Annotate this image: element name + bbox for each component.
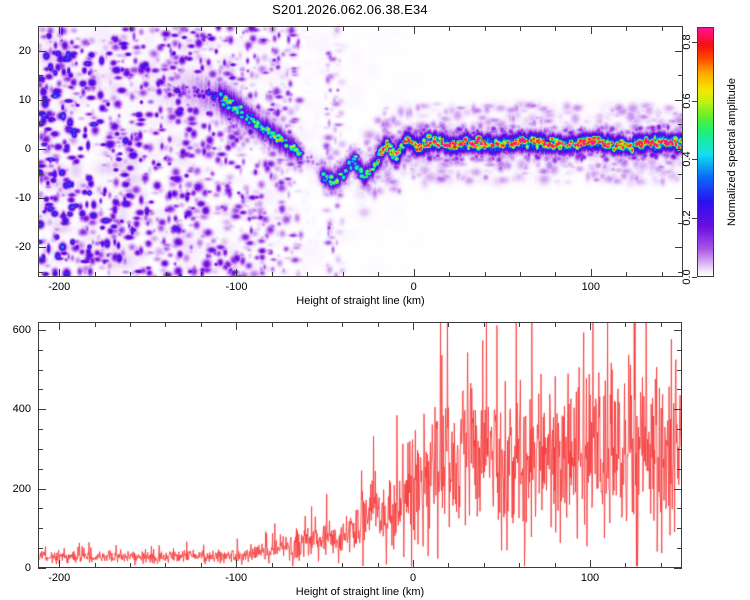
x-tick-major [59,560,60,568]
x-tick-minor [166,272,167,277]
x-tick-minor [201,272,202,277]
x-tick-minor [520,26,521,31]
x-tick-major [591,26,592,34]
x-tick-major [236,560,237,568]
y-tick-major [674,330,682,331]
x-tick-minor [555,272,556,277]
y-tick-minor [678,75,683,76]
y-tick-minor [38,528,43,529]
x-tick-minor [130,563,131,568]
x-tick-label: -200 [48,572,70,584]
x-tick-minor [307,272,308,277]
colorbar-tick-label: 0.8 [681,34,693,49]
x-tick-minor [519,322,520,327]
y-tick-major [675,149,683,150]
x-tick-minor [166,26,167,31]
y-tick-minor [677,429,682,430]
x-tick-label: 0 [410,572,416,584]
x-tick-minor [626,26,627,31]
x-tick-major [591,269,592,277]
x-tick-label: 100 [582,281,600,293]
figure-root: S201.2026.062.06.38.E34 -200-1000100-20-… [0,0,750,600]
y-tick-minor [38,124,43,125]
y-tick-minor [38,389,43,390]
y-tick-minor [678,26,683,27]
x-tick-minor [272,563,273,568]
x-tick-minor [662,26,663,31]
x-tick-minor [95,322,96,327]
x-tick-minor [307,322,308,327]
y-tick-major [675,247,683,248]
y-tick-major [38,247,46,248]
y-tick-major [38,100,46,101]
x-tick-major [414,26,415,34]
x-tick-minor [343,26,344,31]
x-tick-minor [201,563,202,568]
x-tick-major [236,322,237,330]
spectrogram-panel [38,26,683,277]
x-tick-label: 100 [581,572,599,584]
x-tick-major [236,26,237,34]
y-tick-minor [38,548,43,549]
x-tick-minor [555,26,556,31]
x-tick-minor [662,272,663,277]
y-tick-minor [38,75,43,76]
y-tick-minor [38,26,43,27]
x-tick-minor [555,322,556,327]
x-tick-minor [485,26,486,31]
x-tick-minor [165,322,166,327]
y-tick-minor [677,389,682,390]
y-tick-major [675,198,683,199]
y-tick-major [38,149,46,150]
y-tick-minor [38,370,43,371]
x-tick-major [590,322,591,330]
x-tick-minor [485,272,486,277]
x-tick-minor [95,272,96,277]
x-tick-minor [130,26,131,31]
y-tick-major [38,568,46,569]
colorbar [697,27,714,277]
y-tick-minor [677,508,682,509]
spectrogram-canvas [39,27,682,276]
y-tick-label: 20 [0,45,31,57]
y-tick-minor [38,350,43,351]
x-tick-minor [661,322,662,327]
x-tick-minor [201,322,202,327]
y-tick-major [38,489,46,490]
y-tick-label: 400 [0,403,31,415]
y-tick-major [38,409,46,410]
x-tick-minor [484,322,485,327]
x-tick-minor [165,563,166,568]
x-tick-minor [448,322,449,327]
x-tick-minor [343,272,344,277]
x-tick-minor [130,322,131,327]
y-tick-label: 600 [0,324,31,336]
x-tick-major [59,26,60,34]
y-tick-major [675,51,683,52]
x-tick-minor [449,272,450,277]
x-tick-major [236,269,237,277]
y-tick-minor [677,528,682,529]
x-tick-minor [448,563,449,568]
x-tick-major [59,269,60,277]
x-tick-minor [307,26,308,31]
y-tick-minor [38,272,43,273]
x-tick-minor [201,26,202,31]
y-tick-minor [677,370,682,371]
x-tick-minor [95,563,96,568]
y-tick-major [38,198,46,199]
colorbar-tick-label: 0.4 [681,152,693,167]
x-tick-minor [342,322,343,327]
x-tick-label: -200 [48,281,70,293]
y-tick-label: -20 [0,241,31,253]
x-tick-minor [307,563,308,568]
x-tick-minor [661,563,662,568]
y-tick-minor [678,124,683,125]
y-tick-minor [38,469,43,470]
y-tick-minor [677,469,682,470]
y-tick-label: 200 [0,483,31,495]
y-tick-minor [677,548,682,549]
x-tick-major [413,560,414,568]
y-tick-major [674,489,682,490]
x-tick-minor [342,563,343,568]
x-tick-label: -100 [225,572,247,584]
x-tick-minor [449,26,450,31]
colorbar-tick-label: 0.6 [681,93,693,108]
x-tick-minor [378,563,379,568]
y-tick-label: -10 [0,192,31,204]
y-tick-minor [677,449,682,450]
y-tick-label: 10 [0,94,31,106]
y-tick-minor [38,508,43,509]
colorbar-label: Normalized spectral amplitude [726,78,738,226]
snr-xlabel: Height of straight line (km) [296,586,424,598]
colorbar-tick-label: 0.0 [681,269,693,284]
x-tick-minor [555,563,556,568]
y-tick-minor [38,174,43,175]
y-tick-major [674,568,682,569]
y-tick-major [38,51,46,52]
y-tick-minor [677,350,682,351]
x-tick-minor [378,272,379,277]
x-tick-major [414,269,415,277]
x-tick-minor [484,563,485,568]
x-tick-minor [520,272,521,277]
snr-canvas [39,323,681,567]
x-tick-minor [378,322,379,327]
x-tick-minor [272,26,273,31]
x-tick-minor [130,272,131,277]
y-tick-minor [38,449,43,450]
y-tick-major [674,409,682,410]
y-tick-minor [678,174,683,175]
x-tick-label: 0 [411,281,417,293]
colorbar-tick-label: 0.2 [681,211,693,226]
y-tick-minor [38,429,43,430]
snr-panel [38,322,682,568]
spectrogram-xlabel: Height of straight line (km) [296,295,424,307]
y-tick-label: 0 [0,562,31,574]
y-tick-major [38,330,46,331]
x-tick-major [59,322,60,330]
x-tick-minor [625,563,626,568]
x-tick-minor [272,272,273,277]
x-tick-major [413,322,414,330]
x-tick-minor [95,26,96,31]
x-tick-major [590,560,591,568]
y-tick-minor [38,223,43,224]
y-tick-label: 0 [0,143,31,155]
figure-title: S201.2026.062.06.38.E34 [0,2,700,17]
x-tick-minor [272,322,273,327]
x-tick-minor [626,272,627,277]
x-tick-minor [378,26,379,31]
x-tick-label: -100 [225,281,247,293]
x-tick-minor [519,563,520,568]
x-tick-minor [625,322,626,327]
